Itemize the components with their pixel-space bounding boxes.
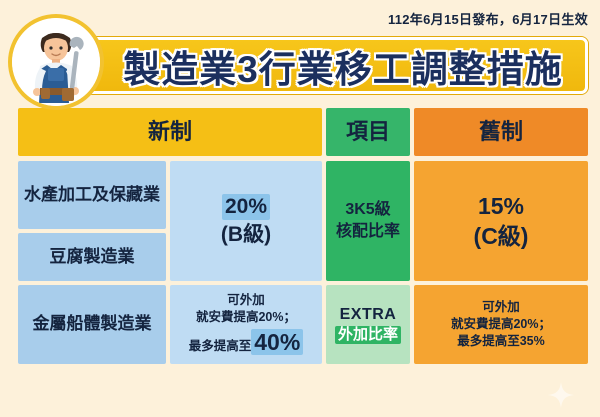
old-extra-line2: 就安費提高20%； — [451, 317, 551, 332]
old-quota-cell: 15% (C級) — [414, 161, 588, 281]
new-quota-grade: (B級) — [221, 222, 271, 248]
new-extra-line3-prefix: 最多提高至 — [189, 339, 252, 353]
item-quota-line2: 核配比率 — [336, 222, 400, 242]
industry-label-3: 金屬船體製造業 — [18, 285, 166, 364]
new-extra-max-value: 40% — [251, 329, 303, 355]
infographic-root: 112年6月15日發布，6月17日生效 製造業3行業移工調整措施 — [0, 0, 600, 417]
comparison-table: 新制 項目 舊制 水產加工及保藏業 豆腐製造業 金屬船體製造業 20% (B級)… — [18, 108, 588, 417]
new-extra-line3: 最多提高至40% — [189, 328, 304, 356]
item-quota-line1: 3K5級 — [345, 200, 390, 220]
old-extra-line1: 可外加 — [482, 300, 520, 315]
old-quota-grade: (C級) — [474, 222, 529, 250]
item-extra-label-zh: 外加比率 — [335, 326, 401, 344]
old-extra-cell: 可外加 就安費提高20%； 最多提高至35% — [414, 285, 588, 364]
industry-label-2: 豆腐製造業 — [18, 233, 166, 281]
item-quota-cell: 3K5級 核配比率 — [326, 161, 410, 281]
column-header-item: 項目 — [326, 108, 410, 156]
new-quota-cell: 20% (B級) — [170, 161, 322, 281]
old-quota-value: 15% — [478, 192, 524, 220]
new-extra-line2: 就安費提高20%； — [196, 310, 296, 325]
worker-illustration-icon — [8, 14, 104, 110]
new-extra-line1: 可外加 — [227, 293, 265, 308]
page-title: 製造業3行業移工調整措施 — [96, 38, 590, 94]
sparkle-decoration-icon — [548, 382, 574, 408]
item-extra-label-en: EXTRA — [340, 305, 397, 325]
old-extra-line3: 最多提高至35% — [457, 334, 545, 349]
publish-date-note: 112年6月15日發布，6月17日生效 — [388, 9, 588, 28]
new-extra-cell: 可外加 就安費提高20%； 最多提高至40% — [170, 285, 322, 364]
column-header-old: 舊制 — [414, 108, 588, 156]
item-extra-cell: EXTRA 外加比率 — [326, 285, 410, 364]
column-header-new: 新制 — [18, 108, 322, 156]
industry-label-1: 水產加工及保藏業 — [18, 161, 166, 229]
new-quota-value: 20% — [222, 194, 270, 220]
